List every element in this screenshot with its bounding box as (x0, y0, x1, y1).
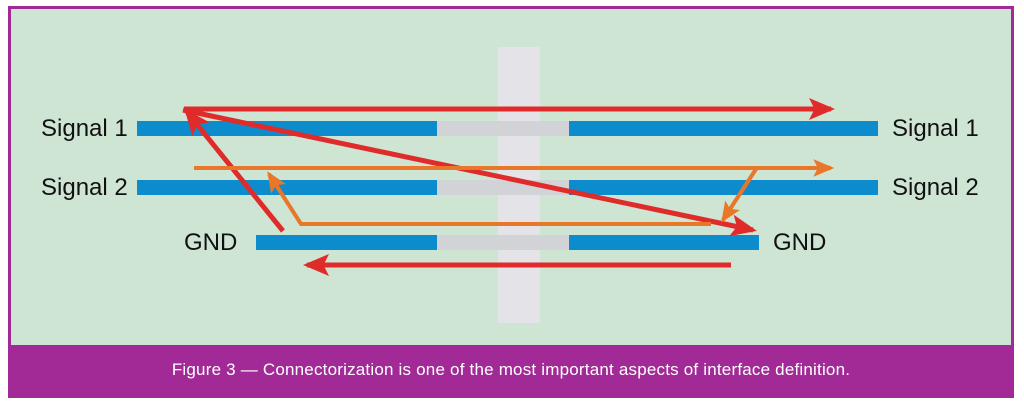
figure-container: Signal 1 Signal 1 Signal 2 Signal 2 GND … (8, 6, 1014, 398)
diagram-area: Signal 1 Signal 1 Signal 2 Signal 2 GND … (11, 9, 1011, 345)
signal-2-right-elbow (723, 169, 756, 220)
signal-2-left-elbow (269, 174, 711, 224)
figure-caption-text: Figure 3 — Connectorization is one of th… (172, 360, 850, 380)
return-path-arrows (11, 9, 1011, 345)
figure-caption-bar: Figure 3 — Connectorization is one of th… (11, 345, 1011, 395)
